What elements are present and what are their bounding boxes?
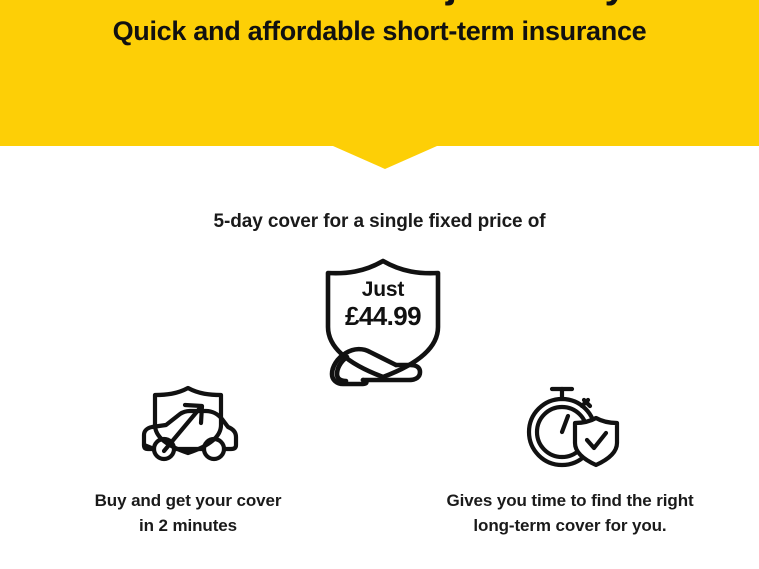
feature-caption-line-1: Buy and get your cover xyxy=(18,488,358,513)
feature-caption-line-1: Gives you time to find the right xyxy=(400,488,740,513)
banner-title: Car insurance for just 5 days xyxy=(0,0,759,7)
banner-subtitle: Quick and affordable short-term insuranc… xyxy=(0,16,759,47)
car-shield-arrow-icon xyxy=(18,378,358,474)
feature-buy-fast: Buy and get your cover in 2 minutes xyxy=(18,378,358,538)
banner-notch-icon xyxy=(333,146,437,169)
feature-time-to-choose: Gives you time to find the right long-te… xyxy=(400,378,740,538)
promo-graphic: Car insurance for just 5 days Quick and … xyxy=(0,0,759,569)
shield-in-hand-icon xyxy=(310,253,456,393)
stopwatch-shield-check-icon xyxy=(400,378,740,474)
feature-caption-line-2: long-term cover for you. xyxy=(400,513,740,538)
feature-caption-line-2: in 2 minutes xyxy=(18,513,358,538)
feature-caption-buy-fast: Buy and get your cover in 2 minutes xyxy=(18,488,358,538)
feature-caption-time-to-choose: Gives you time to find the right long-te… xyxy=(400,488,740,538)
header-banner: Car insurance for just 5 days Quick and … xyxy=(0,0,759,146)
price-lede-text: 5-day cover for a single fixed price of xyxy=(0,211,759,233)
